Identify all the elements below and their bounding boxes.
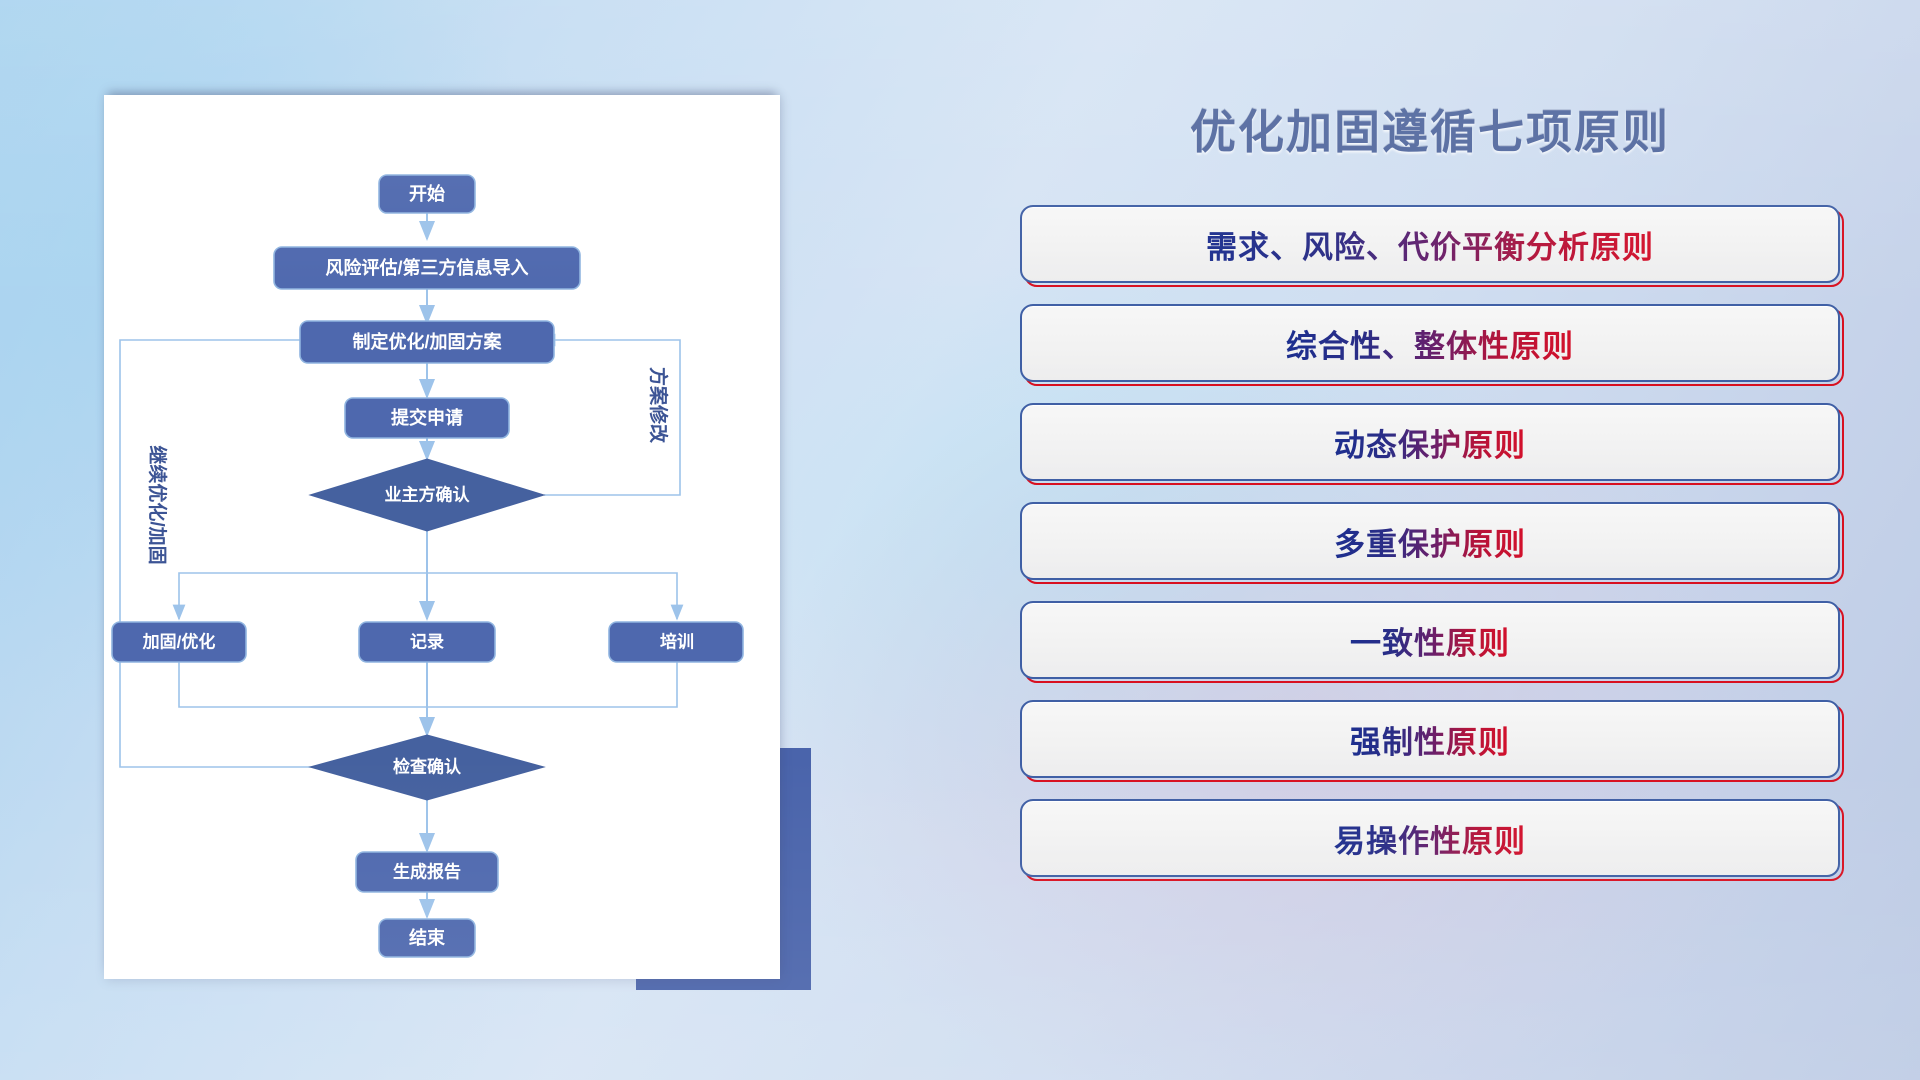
node-check-confirm[interactable]: 检查确认 xyxy=(310,735,544,800)
node-reinforce-optimize-label: 加固/优化 xyxy=(142,631,216,651)
node-risk-assessment[interactable]: 风险评估/第三方信息导入 xyxy=(274,247,580,289)
card-face: 需求、风险、代价平衡分析原则 xyxy=(1020,205,1840,283)
principle-card[interactable]: 多重保护原则 xyxy=(1020,502,1840,580)
node-start-label: 开始 xyxy=(409,183,445,204)
principle-label: 动态保护原则 xyxy=(1334,420,1526,465)
node-record-label: 记录 xyxy=(410,632,444,651)
card-face: 易操作性原则 xyxy=(1020,799,1840,877)
node-check-confirm-label: 检查确认 xyxy=(393,756,462,776)
panel-title: 优化加固遵循七项原则 xyxy=(1020,109,1840,155)
node-owner-confirm-label: 业主方确认 xyxy=(385,484,471,504)
principle-card[interactable]: 需求、风险、代价平衡分析原则 xyxy=(1020,205,1840,283)
node-submit-application-label: 提交申请 xyxy=(391,407,463,428)
slide-canvas: 开始 风险评估/第三方信息导入 制定优化/加固方案 提交申请 业主方确认 加固/ xyxy=(0,0,1920,1080)
node-generate-report[interactable]: 生成报告 xyxy=(356,852,498,892)
principle-card[interactable]: 一致性原则 xyxy=(1020,601,1840,679)
edge-label-right-loop: 方案修改 xyxy=(647,367,670,444)
principles-panel: 优化加固遵循七项原则 需求、风险、代价平衡分析原则 综合性、整体性原则 动态保护… xyxy=(1020,95,1840,995)
node-start[interactable]: 开始 xyxy=(379,175,475,213)
node-owner-confirm[interactable]: 业主方确认 xyxy=(310,459,544,531)
principle-card[interactable]: 动态保护原则 xyxy=(1020,403,1840,481)
card-face: 强制性原则 xyxy=(1020,700,1840,778)
principle-label: 综合性、整体性原则 xyxy=(1286,321,1574,366)
principle-list: 需求、风险、代价平衡分析原则 综合性、整体性原则 动态保护原则 多重保护原则 xyxy=(1020,205,1840,877)
node-risk-assessment-label: 风险评估/第三方信息导入 xyxy=(326,257,529,278)
node-make-plan[interactable]: 制定优化/加固方案 xyxy=(300,321,554,363)
principle-label: 易操作性原则 xyxy=(1334,816,1526,861)
principle-card[interactable]: 综合性、整体性原则 xyxy=(1020,304,1840,382)
card-face: 综合性、整体性原则 xyxy=(1020,304,1840,382)
card-face: 动态保护原则 xyxy=(1020,403,1840,481)
edge-confirm-to-training xyxy=(427,573,677,619)
node-record[interactable]: 记录 xyxy=(359,622,495,662)
principle-card[interactable]: 易操作性原则 xyxy=(1020,799,1840,877)
principle-label: 强制性原则 xyxy=(1350,717,1510,762)
node-training-label: 培训 xyxy=(660,631,694,651)
principle-label: 多重保护原则 xyxy=(1334,519,1526,564)
node-make-plan-label: 制定优化/加固方案 xyxy=(352,331,502,352)
card-face: 一致性原则 xyxy=(1020,601,1840,679)
principle-card[interactable]: 强制性原则 xyxy=(1020,700,1840,778)
node-reinforce-optimize[interactable]: 加固/优化 xyxy=(112,622,246,662)
edge-reinforce-merge xyxy=(179,662,427,707)
flowchart-card: 开始 风险评估/第三方信息导入 制定优化/加固方案 提交申请 业主方确认 加固/ xyxy=(104,95,780,979)
node-training[interactable]: 培训 xyxy=(609,622,743,662)
flowchart-diagram: 开始 风险评估/第三方信息导入 制定优化/加固方案 提交申请 业主方确认 加固/ xyxy=(104,95,780,979)
principle-label: 需求、风险、代价平衡分析原则 xyxy=(1206,222,1654,267)
edge-training-merge xyxy=(427,662,677,707)
node-generate-report-label: 生成报告 xyxy=(393,861,461,881)
card-face: 多重保护原则 xyxy=(1020,502,1840,580)
edge-confirm-to-reinforce xyxy=(179,573,427,619)
node-end-label: 结束 xyxy=(409,927,446,948)
edge-label-left-loop: 继续优化/加固 xyxy=(146,445,169,564)
node-end[interactable]: 结束 xyxy=(379,919,475,957)
node-submit-application[interactable]: 提交申请 xyxy=(345,398,509,438)
principle-label: 一致性原则 xyxy=(1350,618,1510,663)
